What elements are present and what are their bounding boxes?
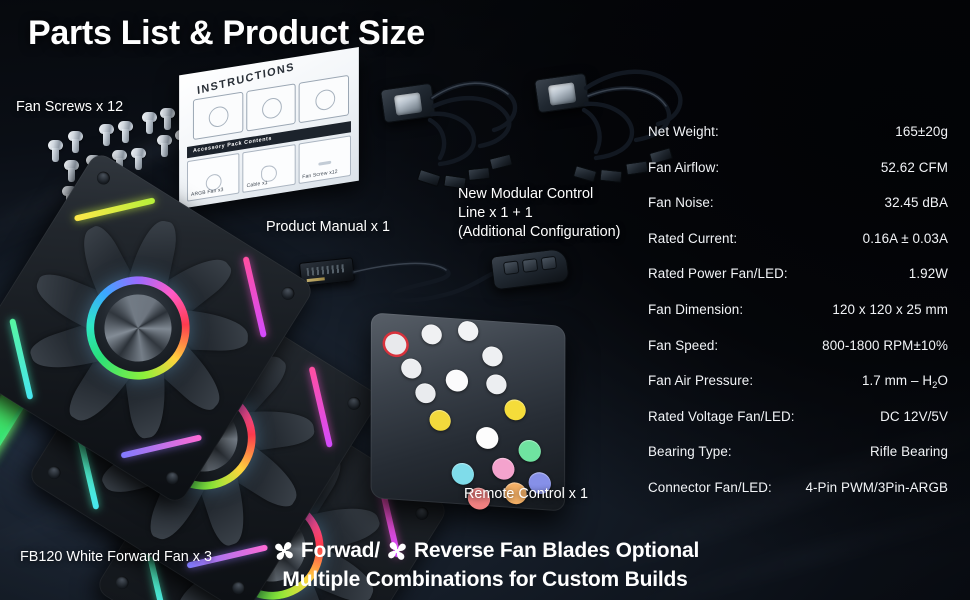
vignette-overlay bbox=[0, 0, 970, 600]
infographic-canvas: Parts List & Product Size INSTRUCTIONS A… bbox=[0, 0, 970, 600]
